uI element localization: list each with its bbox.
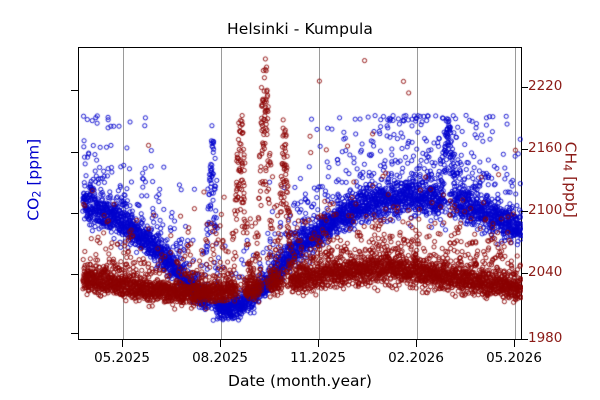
x-tick-05.2026: 05.2026 [486, 350, 542, 366]
x-tick-11.2025: 11.2025 [290, 350, 346, 366]
x-tickmark-08.2025 [220, 340, 221, 347]
chart-title: Helsinki - Kumpula [0, 20, 600, 38]
figure-canvas: Helsinki - Kumpula 400420440460480 19802… [0, 0, 600, 400]
co2-label-subscript: 2 [31, 191, 44, 198]
x-tickmark-05.2026 [514, 340, 515, 347]
y-tickmark-left-400 [71, 333, 78, 334]
y-axis-left-label: CO2 [ppm] [24, 60, 43, 300]
x-tick-05.2025: 05.2025 [94, 350, 150, 366]
plot-area [78, 47, 522, 340]
co2-label-unit: [ppm] [24, 139, 42, 191]
y-tickmark-left-440 [71, 213, 78, 214]
y-tickmark-left-460 [71, 152, 78, 153]
ch4-label-subscript: 4 [560, 164, 573, 171]
y-tickmark-right-2040 [521, 273, 528, 274]
y-tickmark-left-420 [71, 274, 78, 275]
co2-label-text: CO [24, 198, 42, 221]
y-tick-right-2220: 2220 [528, 78, 562, 94]
y-axis-right-label: CH4 [ppb] [560, 60, 579, 300]
ch4-label-text: CH [562, 142, 580, 164]
x-tick-02.2026: 02.2026 [388, 350, 444, 366]
y-tickmark-left-480 [71, 90, 78, 91]
y-tickmark-right-1980 [521, 339, 528, 340]
x-tickmark-02.2026 [416, 340, 417, 347]
x-tickmark-11.2025 [318, 340, 319, 347]
y-tick-right-2040: 2040 [528, 264, 562, 280]
y-tickmark-right-2160 [521, 149, 528, 150]
y-tick-right-2100: 2100 [528, 202, 562, 218]
y-tickmark-right-2100 [521, 211, 528, 212]
y-tick-right-2160: 2160 [528, 140, 562, 156]
scatter-plot-canvas [79, 48, 523, 341]
ch4-label-unit: [ppb] [562, 171, 580, 218]
y-tickmark-right-2220 [521, 87, 528, 88]
x-tickmark-05.2025 [122, 340, 123, 347]
y-tick-right-1980: 1980 [528, 330, 562, 346]
x-tick-08.2025: 08.2025 [192, 350, 248, 366]
x-axis-label: Date (month.year) [0, 372, 600, 390]
